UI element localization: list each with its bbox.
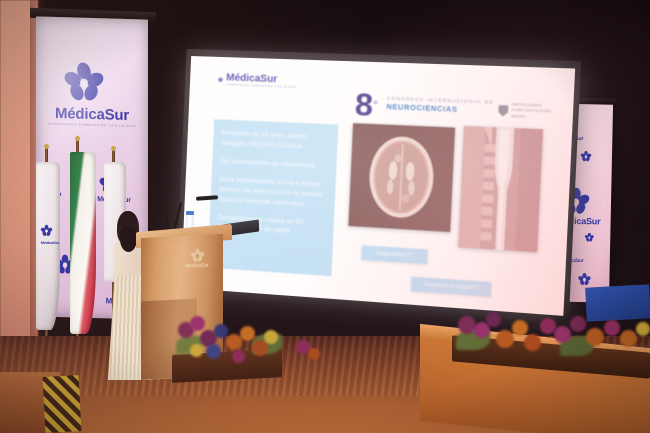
flower-bloom [240, 326, 255, 341]
flag-pole-finial [44, 144, 49, 149]
flower-bloom [636, 322, 650, 336]
projection-screen[interactable]: MédicaSur COMPROMISO COMPARTIDO CON LA V… [181, 56, 575, 316]
flower-planter [172, 349, 282, 383]
hazard-stripe-marking [43, 375, 82, 433]
flower-bloom [524, 334, 541, 351]
medicasur-pinwheel-flower-logo [580, 150, 592, 162]
case-text-line: Femenino de 28 años, diestra, abogada, R… [221, 129, 330, 154]
medicasur-wordmark-large: MédicaSur [44, 105, 140, 125]
podium-medicasur-logo: MédicaSur [176, 247, 218, 273]
case-text-line: Inicia padecimiento actual 6 meses previ… [218, 175, 327, 211]
congress-logo: 8° CONGRESO INTERNACIONAL DE NEUROCIENCI… [354, 90, 378, 121]
flower-bloom [190, 316, 205, 331]
flower-bloom [486, 312, 501, 327]
congress-subtitle-line2: NEUROCIENCIAS [386, 104, 458, 114]
flower-bloom [554, 326, 571, 343]
presentation-slide: MédicaSur COMPROMISO COMPARTIDO CON LA V… [181, 56, 575, 316]
slide-case-text-box: Femenino de 28 años, diestra, abogada, R… [208, 119, 339, 276]
medicasur-pinwheel-flower-logo [62, 59, 106, 104]
blue-skirted-table [585, 284, 650, 321]
medicasur-pinwheel-flower-logo [218, 73, 224, 86]
congress-degree-symbol: ° [373, 100, 378, 113]
case-text-line: Sin antecedentes de importancia [220, 157, 328, 173]
medicasur-pinwheel-flower-logo [40, 224, 53, 237]
sagittal-cervical-spine-mri [458, 126, 543, 252]
medicasur-pinwheel-flower-logo [190, 248, 205, 264]
mexican-flag [70, 152, 96, 334]
screen-surface: MédicaSur COMPROMISO COMPARTIDO CON LA V… [181, 56, 575, 316]
medicasur-flag-left [36, 162, 60, 330]
medicasur-wordmark-small: MédicaSur [38, 240, 62, 245]
flag-pole-finial [111, 146, 116, 151]
flower-bloom [232, 350, 245, 363]
slide-medicasur-logo: MédicaSur COMPROMISO COMPARTIDO CON LA V… [217, 73, 297, 96]
shield-crest-icon [498, 105, 508, 117]
flower-bloom [264, 330, 278, 344]
podium-medicasur-wordmark: MédicaSur [176, 262, 218, 270]
flower-bloom [206, 344, 221, 359]
medicasur-pinwheel-flower-logo [584, 232, 594, 242]
flower-bloom [308, 348, 320, 360]
flower-bloom [604, 320, 620, 336]
conference-stage-photo: MédicaSur COMPROMISO COMPARTIDO CON LA V… [0, 0, 650, 433]
partner-institution-logo: PARTICULARES CLINIC INSTITUTION NEURO [498, 102, 551, 121]
flower-bloom [586, 328, 604, 346]
flower-bloom [496, 330, 514, 348]
flower-bloom [620, 330, 637, 347]
flower-bloom [570, 316, 586, 332]
flower-bloom [190, 344, 203, 357]
flower-bloom [512, 320, 528, 336]
flower-bloom [214, 324, 228, 338]
presenter-hair-lower [120, 226, 137, 252]
slide-caption-diagnostico: Diagnóstico?? [361, 245, 427, 264]
medicasur-pinwheel-flower-logo [577, 272, 591, 286]
congress-edition-number: 8 [354, 86, 374, 123]
flag-pole-finial [75, 136, 80, 141]
water-bottle-cap [186, 211, 194, 215]
axial-brain-mri [348, 123, 455, 232]
slide-caption-conducta: Conducta a seguir?? [411, 277, 492, 297]
